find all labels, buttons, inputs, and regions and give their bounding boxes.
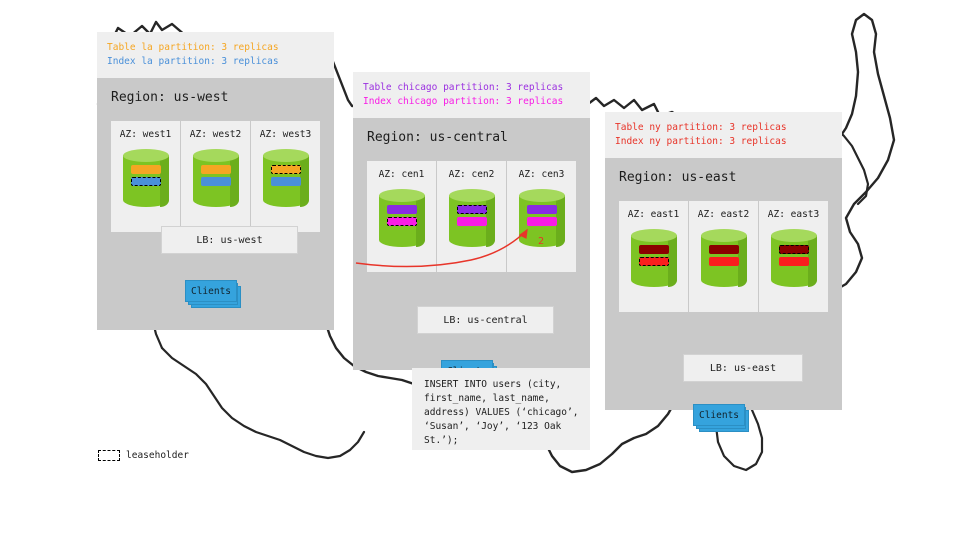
diagram-canvas: Table la partition: 3 replicas Index la … xyxy=(0,0,960,540)
clients-us-west[interactable]: Clients xyxy=(185,280,241,304)
replica-band-table xyxy=(131,165,161,174)
replica-band-table xyxy=(201,165,231,174)
cylinder-top xyxy=(263,149,309,162)
cylinder-top xyxy=(771,229,817,242)
region-body-us-central: Region: us-central AZ: cen1 xyxy=(353,118,590,370)
routing-arrow-path xyxy=(356,230,527,266)
routing-arrow-head xyxy=(520,230,527,238)
sql-line-4: ‘Susan’, ‘Joy’, ‘123 Oak xyxy=(424,420,582,434)
sql-line-2: first_name, last_name, xyxy=(424,392,582,406)
cylinder-top xyxy=(631,229,677,242)
az-east1[interactable]: AZ: east1 xyxy=(619,201,688,312)
replica-bands xyxy=(771,245,817,266)
legend-label: leaseholder xyxy=(126,450,189,461)
legend-leaseholder: leaseholder xyxy=(98,450,189,461)
az-east2[interactable]: AZ: east2 xyxy=(688,201,758,312)
node-cylinder-east3 xyxy=(771,229,817,293)
header-line-index-la: Index la partition: 3 replicas xyxy=(107,55,324,69)
header-line-table-ny: Table ny partition: 3 replicas xyxy=(615,121,832,135)
az-west3[interactable]: AZ: west3 xyxy=(250,121,320,232)
replica-band-index xyxy=(709,257,739,266)
region-header-us-west: Table la partition: 3 replicas Index la … xyxy=(97,32,334,78)
node-cylinder-east2 xyxy=(701,229,747,293)
cylinder-top xyxy=(123,149,169,162)
replica-band-index-leaseholder xyxy=(639,257,669,266)
replica-band-index xyxy=(779,257,809,266)
clients-label: Clients xyxy=(699,410,739,421)
region-header-us-east: Table ny partition: 3 replicas Index ny … xyxy=(605,112,842,158)
cylinder-top xyxy=(193,149,239,162)
az-west1[interactable]: AZ: west1 xyxy=(111,121,180,232)
load-balancer-us-west[interactable]: LB: us-west xyxy=(161,226,298,254)
replica-bands xyxy=(701,245,747,266)
node-cylinder-west2 xyxy=(193,149,239,213)
load-balancer-us-east[interactable]: LB: us-east xyxy=(683,354,803,382)
sql-statement-note: INSERT INTO users (city, first_name, las… xyxy=(412,368,590,450)
sql-line-1: INSERT INTO users (city, xyxy=(424,378,582,392)
node-cylinder-east1 xyxy=(631,229,677,293)
us-map-detail-baja xyxy=(162,348,364,458)
node-cylinder-west1 xyxy=(123,149,169,213)
sql-line-5: St.’); xyxy=(424,434,582,448)
az-label-west2: AZ: west2 xyxy=(190,129,241,140)
clients-sheet-front: Clients xyxy=(693,404,745,426)
region-title-us-east: Region: us-east xyxy=(605,158,842,185)
replica-band-index xyxy=(271,177,301,186)
az-strip-us-west: AZ: west1 AZ: west2 xyxy=(111,121,320,232)
region-body-us-east: Region: us-east AZ: east1 AZ xyxy=(605,158,842,410)
replica-bands xyxy=(631,245,677,266)
clients-us-east[interactable]: Clients xyxy=(693,404,749,428)
replica-band-table-leaseholder xyxy=(271,165,301,174)
replica-bands xyxy=(263,165,309,186)
clients-sheet-front: Clients xyxy=(185,280,237,302)
header-line-index-ny: Index ny partition: 3 replicas xyxy=(615,135,832,149)
region-panel-us-central: Table chicago partition: 3 replicas Inde… xyxy=(353,72,590,370)
az-east3[interactable]: AZ: east3 xyxy=(758,201,828,312)
header-line-table-chicago: Table chicago partition: 3 replicas xyxy=(363,81,580,95)
header-line-index-chicago: Index chicago partition: 3 replicas xyxy=(363,95,580,109)
az-label-east2: AZ: east2 xyxy=(698,209,749,220)
replica-band-table-leaseholder xyxy=(779,245,809,254)
az-label-west3: AZ: west3 xyxy=(260,129,311,140)
replica-band-index xyxy=(201,177,231,186)
replica-bands xyxy=(193,165,239,186)
node-cylinder-west3 xyxy=(263,149,309,213)
region-title-us-west: Region: us-west xyxy=(97,78,334,105)
region-header-us-central: Table chicago partition: 3 replicas Inde… xyxy=(353,72,590,118)
region-body-us-west: Region: us-west AZ: west1 AZ xyxy=(97,78,334,330)
replica-band-table xyxy=(709,245,739,254)
clients-label: Clients xyxy=(191,286,231,297)
replica-band-table xyxy=(639,245,669,254)
region-panel-us-west: Table la partition: 3 replicas Index la … xyxy=(97,32,334,330)
az-label-east3: AZ: east3 xyxy=(768,209,819,220)
sql-line-3: address) VALUES (‘chicago’, xyxy=(424,406,582,420)
az-strip-us-east: AZ: east1 AZ: east2 xyxy=(619,201,828,312)
replica-bands xyxy=(123,165,169,186)
region-panel-us-east: Table ny partition: 3 replicas Index ny … xyxy=(605,112,842,410)
az-label-west1: AZ: west1 xyxy=(120,129,171,140)
cylinder-top xyxy=(701,229,747,242)
load-balancer-us-central[interactable]: LB: us-central xyxy=(417,306,554,334)
leaseholder-swatch-icon xyxy=(98,450,120,461)
az-west2[interactable]: AZ: west2 xyxy=(180,121,250,232)
replica-band-index-leaseholder xyxy=(131,177,161,186)
routing-arrow-label: 2 xyxy=(538,236,544,247)
az-label-east1: AZ: east1 xyxy=(628,209,679,220)
header-line-table-la: Table la partition: 3 replicas xyxy=(107,41,324,55)
